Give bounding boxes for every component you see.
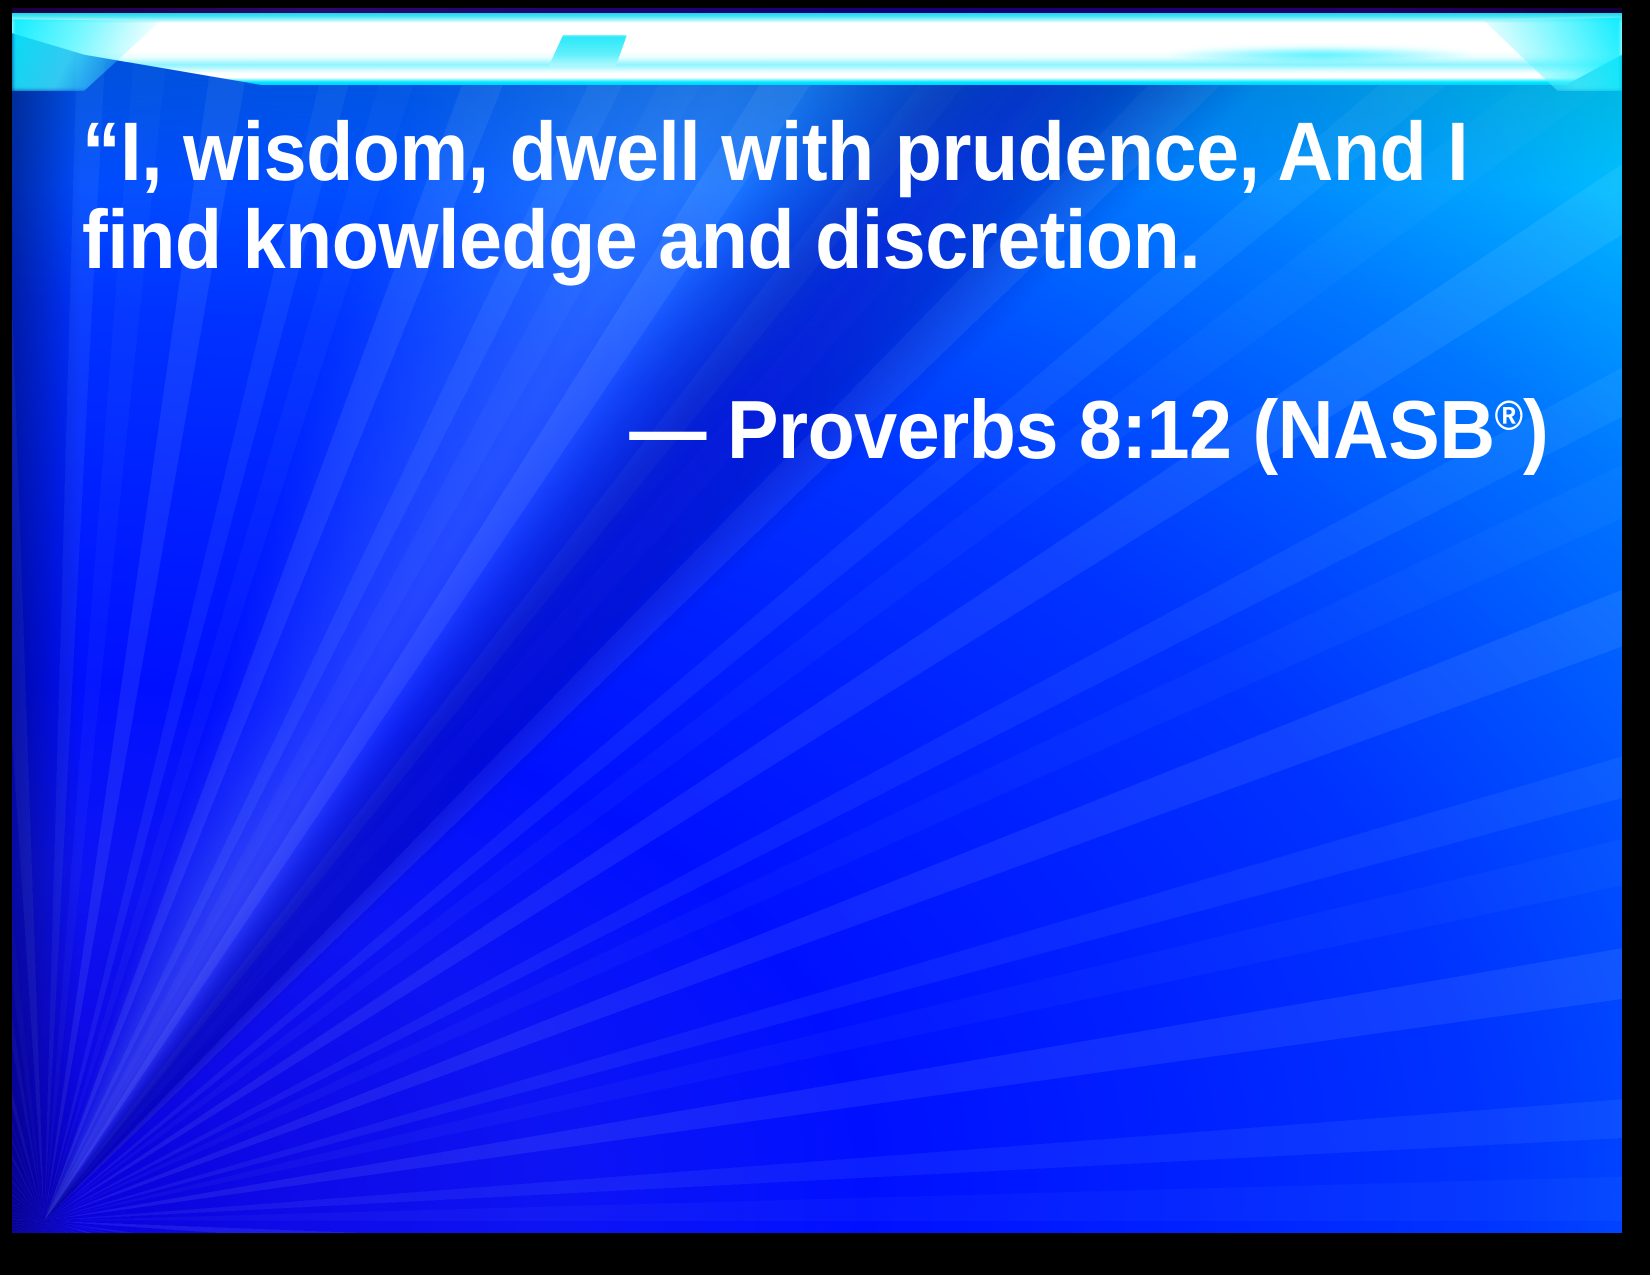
verse-attribution: — Proverbs 8:12 (NASB®): [185, 286, 1552, 574]
frame-bottom: [0, 1233, 1650, 1275]
verse-slide: “I, wisdom, dwell with prudence, And I f…: [0, 0, 1650, 1275]
frame-top: [0, 0, 1650, 8]
verse-line-2: find knowledge and discretion.: [82, 196, 1449, 284]
frame-right: [1624, 0, 1650, 1275]
header-left-cyan-wedge: [12, 13, 252, 91]
frame-left: [0, 0, 12, 1275]
attribution-dash: —: [629, 383, 727, 476]
attribution-reference: Proverbs 8:12 (NASB: [727, 383, 1495, 476]
header-cyan-smear: [1170, 47, 1470, 63]
attribution-closing-paren: ): [1523, 383, 1548, 476]
registered-trademark-icon: ®: [1495, 391, 1523, 438]
verse-line-1: “I, wisdom, dwell with prudence, And I: [82, 108, 1449, 196]
header-cyan-notch: [545, 35, 627, 67]
frame-top-accent-line: [12, 8, 1622, 13]
verse-text-block: “I, wisdom, dwell with prudence, And I f…: [82, 108, 1552, 574]
